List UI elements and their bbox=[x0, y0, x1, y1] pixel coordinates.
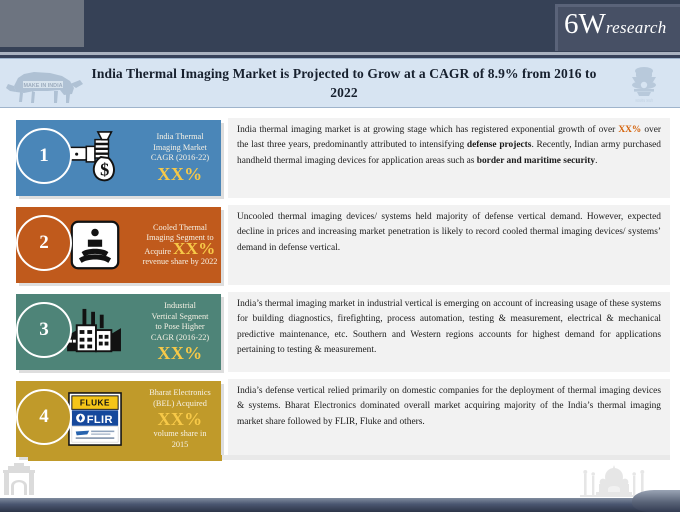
insight-caption-suffix-line: 2015 bbox=[128, 440, 232, 451]
footer-curl-decoration bbox=[632, 490, 680, 512]
insight-value-4: XX% bbox=[128, 409, 232, 429]
brand-logo-secondary: research bbox=[606, 18, 667, 37]
insight-caption-1: India Thermal Imaging Market CAGR (2016-… bbox=[128, 124, 232, 192]
insight-row-4: 4 FLUKE FLIR Bharat Ele bbox=[0, 379, 680, 463]
gray-block-decoration bbox=[0, 0, 84, 47]
insight-caption-prefix: Acquire bbox=[144, 247, 173, 256]
factory-industrial-icon bbox=[64, 302, 126, 362]
insight-row-3: 3 bbox=[0, 292, 680, 376]
insight-caption-line: to Pose Higher bbox=[128, 322, 232, 333]
footer-zone bbox=[0, 462, 680, 510]
fluke-logo-text: FLUKE bbox=[80, 399, 110, 408]
insight-panel-2: 2 Cooled Thermal Imaging Segment to Acqu… bbox=[16, 207, 221, 283]
vendor-logos-icon: FLUKE FLIR bbox=[64, 389, 126, 449]
body-text-segment: Uncooled thermal imaging devices/ system… bbox=[237, 212, 661, 253]
brand-logo-text: 6Wresearch bbox=[564, 8, 667, 41]
footer-shadow-strip bbox=[222, 455, 670, 460]
insight-body-3: India’s thermal imaging market in indust… bbox=[228, 292, 670, 372]
infographic-page: 6Wresearch MAKE IN INDIA India Thermal I… bbox=[0, 0, 680, 510]
insight-panel-1: 1 $ bbox=[16, 120, 221, 196]
insight-value-2: XX% bbox=[173, 239, 215, 258]
insight-body-2: Uncooled thermal imaging devices/ system… bbox=[228, 205, 670, 285]
title-banner: MAKE IN INDIA India Thermal Imaging Mark… bbox=[0, 58, 680, 108]
insight-value-3: XX% bbox=[128, 343, 232, 363]
footer-gold-strip bbox=[28, 455, 222, 461]
insight-number-1: 1 bbox=[16, 128, 72, 184]
insight-row-2: 2 Cooled Thermal Imaging Segment to Acqu… bbox=[0, 205, 680, 289]
insight-caption-suffix-line: volume share in bbox=[128, 429, 232, 440]
insight-caption-4: Bharat Electronics (BEL) Acquired XX% vo… bbox=[128, 385, 232, 453]
page-title: India Thermal Imaging Market is Projecte… bbox=[88, 64, 600, 102]
insight-caption-line: Vertical Segment bbox=[128, 312, 232, 323]
brand-logo-primary: 6W bbox=[564, 8, 606, 40]
top-header-bar: 6Wresearch bbox=[0, 0, 680, 52]
body-text-segment: India’s thermal imaging market in indust… bbox=[237, 299, 661, 355]
make-in-india-lion-icon: MAKE IN INDIA bbox=[4, 62, 86, 106]
insight-value-1: XX% bbox=[128, 164, 232, 184]
insight-body-4: India’s defense vertical relied primaril… bbox=[228, 379, 670, 459]
insight-number-3: 3 bbox=[16, 302, 72, 358]
svg-text:$: $ bbox=[100, 159, 109, 179]
insight-number-4: 4 bbox=[16, 389, 72, 445]
insight-caption-line: Bharat Electronics bbox=[128, 388, 232, 399]
insight-caption-acquire-row: Acquire XX% bbox=[128, 244, 232, 258]
insight-caption-2: Cooled Thermal Imaging Segment to Acquir… bbox=[128, 211, 232, 279]
insight-caption-line: Imaging Market bbox=[128, 143, 232, 154]
body-text-segment: India thermal imaging market is at growi… bbox=[237, 125, 618, 135]
india-gate-icon bbox=[2, 462, 36, 496]
make-in-india-label: MAKE IN INDIA bbox=[24, 83, 63, 89]
insight-panel-3: 3 bbox=[16, 294, 221, 370]
insight-caption-suffix: revenue share by 2022 bbox=[128, 257, 232, 268]
insight-number-2: 2 bbox=[16, 215, 72, 271]
brand-logo: 6Wresearch bbox=[555, 4, 680, 51]
body-text-bold: defense projects bbox=[467, 140, 532, 150]
ashoka-pillar-emblem-icon: सत्यमेव जयते bbox=[624, 63, 664, 105]
flir-logo-text: FLIR bbox=[87, 414, 113, 426]
insight-caption-line: Cooled Thermal bbox=[128, 223, 232, 234]
cooled-thermal-sensor-icon bbox=[64, 215, 126, 275]
hand-holding-money-bag-icon: $ bbox=[64, 128, 126, 188]
body-text-highlight: XX% bbox=[618, 125, 641, 135]
insight-caption-line: Industrial bbox=[128, 301, 232, 312]
body-text-bold: border and maritime security bbox=[477, 156, 595, 166]
body-text-segment: . bbox=[595, 156, 597, 166]
insight-caption-line: CAGR (2016-22) bbox=[128, 333, 232, 344]
insight-row-1: 1 $ bbox=[0, 118, 680, 202]
body-text-segment: India’s defense vertical relied primaril… bbox=[237, 386, 661, 427]
insight-panel-4: 4 FLUKE FLIR Bharat Ele bbox=[16, 381, 221, 457]
svg-text:सत्यमेव जयते: सत्यमेव जयते bbox=[635, 98, 653, 103]
insight-caption-3: Industrial Vertical Segment to Pose High… bbox=[128, 298, 232, 366]
insight-caption-line: (BEL) Acquired bbox=[128, 399, 232, 410]
insight-body-1: India thermal imaging market is at growi… bbox=[228, 118, 670, 198]
insight-caption-line: India Thermal bbox=[128, 132, 232, 143]
insight-caption-line: CAGR (2016-22) bbox=[128, 153, 232, 164]
